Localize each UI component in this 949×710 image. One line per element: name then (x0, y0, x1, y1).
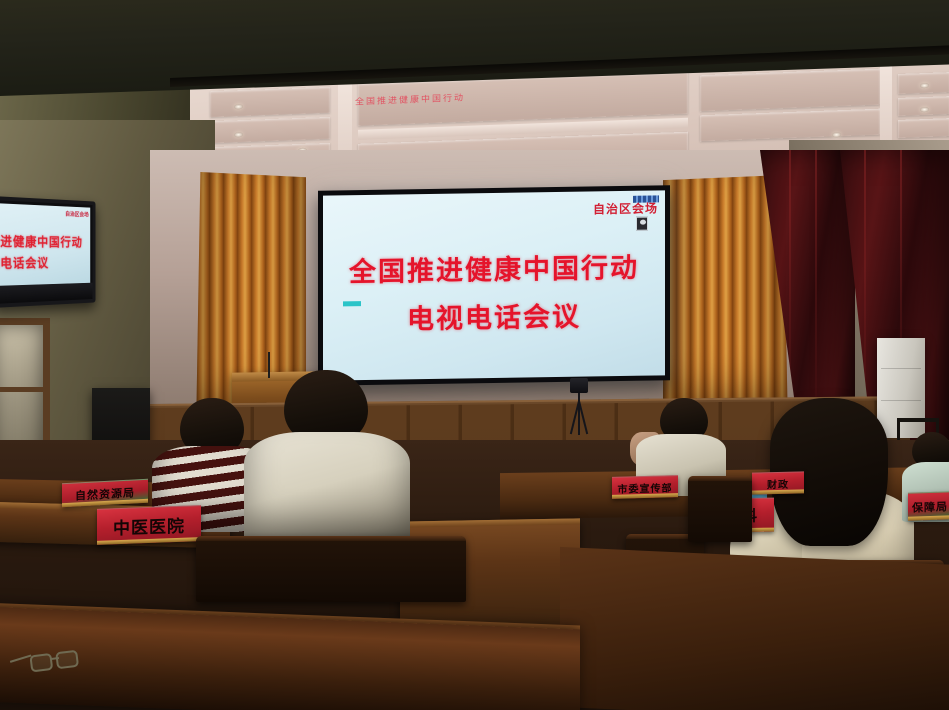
side-monitor-corner-label: 自治区会场 (65, 209, 88, 218)
desk-right-front (560, 547, 949, 710)
placard-tcm-hospital: 中医医院 (97, 505, 201, 545)
side-monitor-screen: 自治区会场 推进健康中国行动 视电话会议 (0, 203, 90, 285)
chair-back-center (196, 536, 466, 602)
side-monitor-bezel (0, 283, 93, 304)
placard-label: 保障局 (912, 498, 948, 515)
side-monitor-title-line-1: 推进健康中国行动 (0, 231, 83, 250)
screen-title-line-1: 全国推进健康中国行动 (323, 245, 665, 289)
placard-finance-bureau: 财政 (752, 471, 804, 494)
torso (244, 432, 410, 552)
tripod-camera (578, 393, 580, 433)
ceiling-downlight (832, 132, 841, 137)
screen-corner-label: 自治区会场 (593, 199, 658, 217)
side-monitor-title-line-2: 视电话会议 (0, 253, 49, 272)
placard-label: 中医医院 (113, 512, 185, 540)
placard-natural-resources: 自然资源局 (62, 479, 148, 508)
chair-back-far-right (688, 476, 752, 542)
glasses-lens-right (55, 650, 79, 670)
screen-title-line-2: 电视电话会议 (323, 293, 665, 337)
window-mullion (0, 387, 43, 392)
glasses-lens-left (29, 653, 53, 673)
placard-propaganda-dept: 市委宣传部 (612, 475, 678, 499)
participant-thumbnail-icon (636, 217, 648, 231)
screen-surface: 自治区会场 全国推进健康中国行动 电视电话会议 (323, 190, 665, 380)
main-projection-screen[interactable]: 自治区会场 全国推进健康中国行动 电视电话会议 (318, 185, 670, 386)
side-monitor[interactable]: 自治区会场 推进健康中国行动 视电话会议 (0, 196, 96, 308)
placard-security-bureau: 保障局 (908, 491, 949, 521)
conference-hall-photo: 全国推进健康中国行动 自治区会场 全国推进健康中国行动 电视电话会议 自治区会场 (0, 0, 949, 710)
